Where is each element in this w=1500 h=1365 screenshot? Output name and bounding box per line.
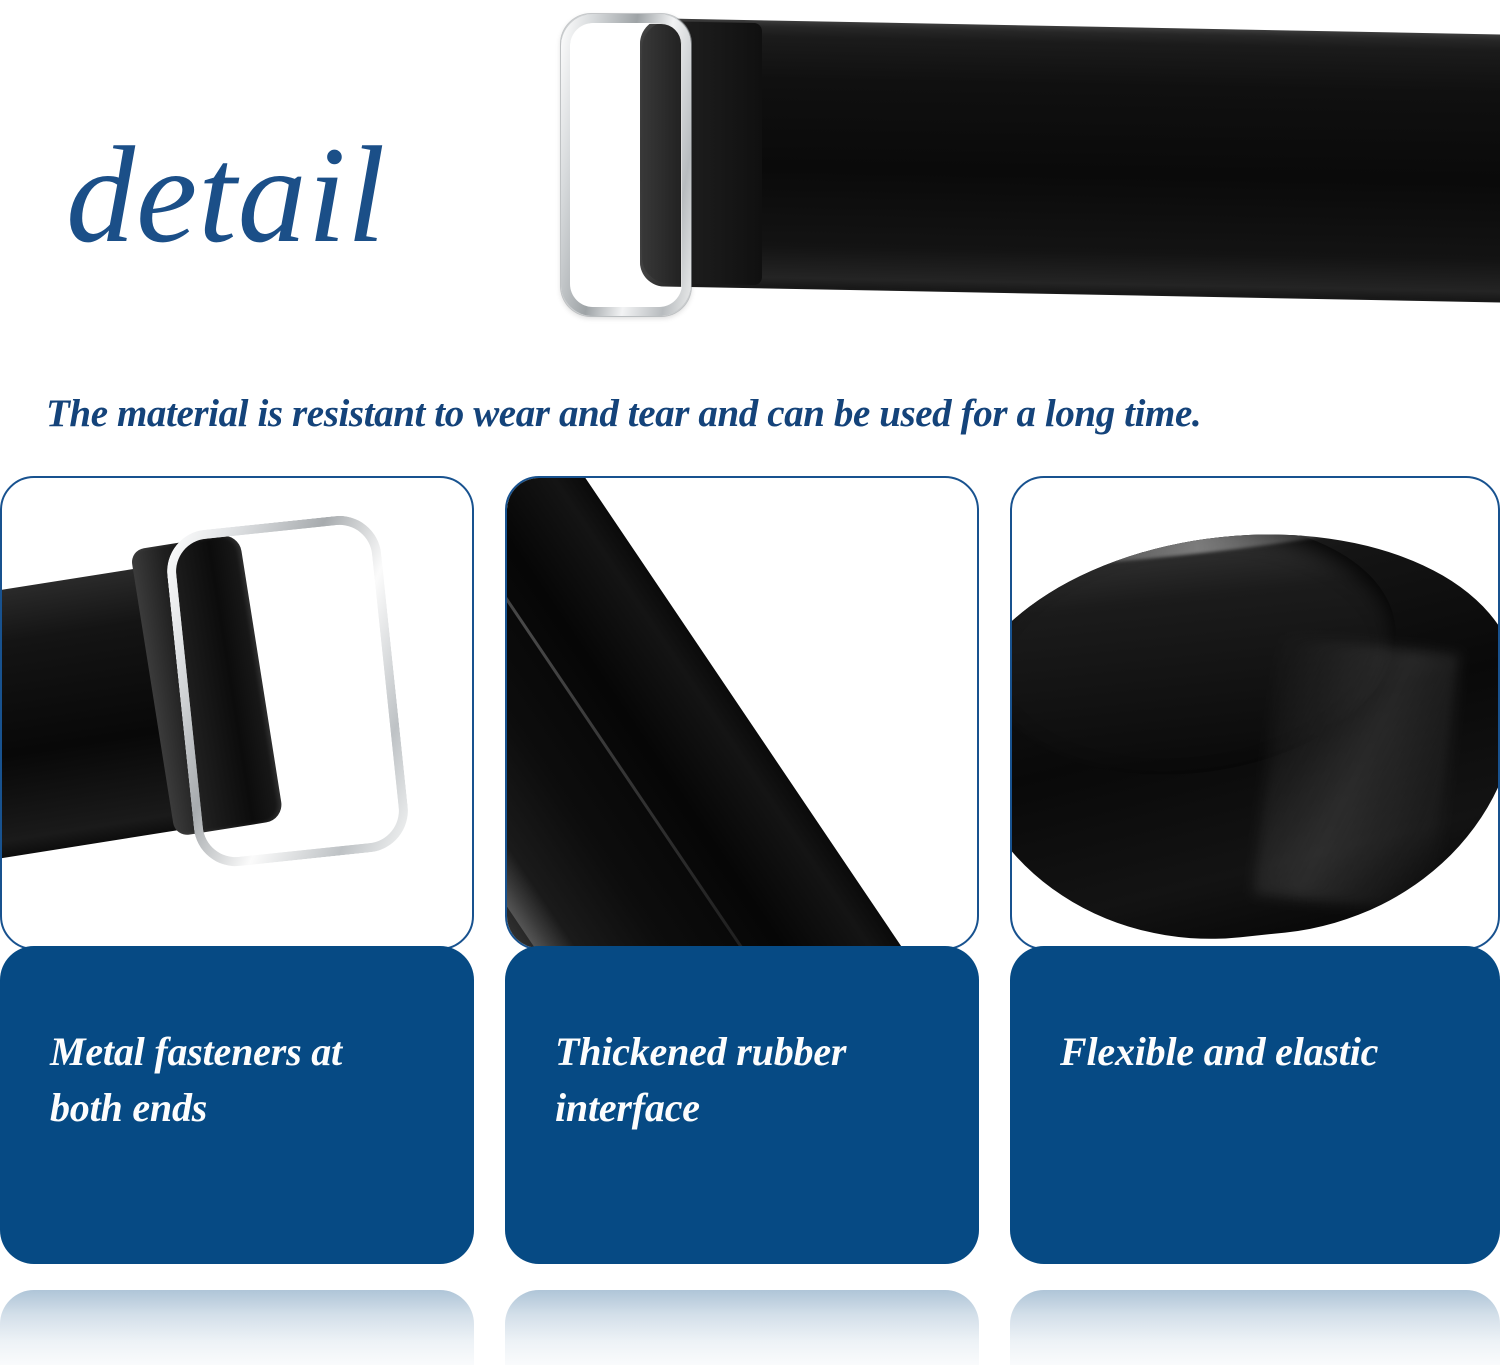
card-photo-metal-fasteners — [0, 476, 474, 950]
card-photo-thickened-rubber — [505, 476, 979, 950]
feature-card-row: Metal fasteners at both ends Thickened r… — [0, 476, 1500, 1286]
card-caption-metal-fasteners: Metal fasteners at both ends — [0, 946, 474, 1264]
card-caption-label: Metal fasteners at both ends — [50, 1024, 410, 1136]
loop-sheen-icon — [1254, 636, 1460, 913]
card-caption-thickened-rubber: Thickened rubber interface — [505, 946, 979, 1264]
hero-rubber-strap-icon — [640, 18, 1500, 303]
hero-metal-buckle-icon — [561, 14, 691, 316]
rubber-band-icon — [505, 476, 965, 950]
product-detail-page: detail The material is resistant to wear… — [0, 0, 1500, 1365]
metal-buckle-icon — [163, 512, 412, 871]
card-caption-label: Thickened rubber interface — [555, 1024, 915, 1136]
hero-banner: detail — [0, 0, 1500, 360]
card-caption-label: Flexible and elastic — [1060, 1024, 1420, 1080]
card-reflection — [1010, 1290, 1500, 1365]
card-reflection — [505, 1290, 979, 1365]
feature-card-thickened-rubber[interactable]: Thickened rubber interface — [505, 476, 979, 1286]
page-title: detail — [66, 126, 386, 264]
card-reflection — [0, 1290, 474, 1365]
subtitle-text: The material is resistant to wear and te… — [46, 392, 1466, 437]
card-photo-flexible-elastic — [1010, 476, 1500, 950]
card-caption-flexible-elastic: Flexible and elastic — [1010, 946, 1500, 1264]
feature-card-metal-fasteners[interactable]: Metal fasteners at both ends — [0, 476, 474, 1286]
feature-card-flexible-elastic[interactable]: Flexible and elastic — [1010, 476, 1500, 1286]
curled-band-loop-icon — [1010, 508, 1500, 950]
